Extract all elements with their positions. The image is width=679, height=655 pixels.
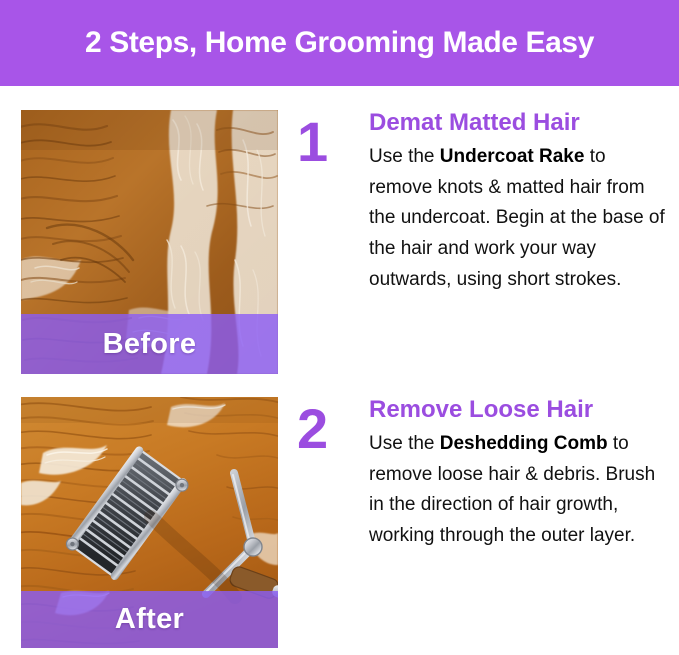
step-text-1: Demat Matted Hair Use the Undercoat Rake…: [369, 110, 669, 296]
before-label-text: Before: [103, 328, 197, 361]
page-title: 2 Steps, Home Grooming Made Easy: [85, 26, 594, 60]
header-banner: 2 Steps, Home Grooming Made Easy: [0, 0, 679, 86]
step-body-2-bold: Deshedding Comb: [440, 433, 608, 454]
step-row-1: Before 1 Demat Matted Hair Use the Under…: [0, 110, 679, 374]
step-body-1-after: to remove knots & matted hair from the u…: [369, 146, 665, 290]
step-number-2: 2: [297, 401, 353, 457]
before-photo: Before: [21, 110, 278, 374]
step-body-1: Use the Undercoat Rake to remove knots &…: [369, 142, 669, 296]
before-label-band: Before: [21, 314, 278, 374]
step-heading-1: Demat Matted Hair: [369, 110, 669, 137]
rake-pivot: [244, 538, 262, 556]
step-body-1-before: Use the: [369, 146, 440, 167]
step-body-1-bold: Undercoat Rake: [440, 146, 585, 167]
after-label-band: After: [21, 591, 278, 648]
step-row-2: After 2 Remove Loose Hair Use the Deshed…: [0, 397, 679, 648]
step-body-2: Use the Deshedding Comb to remove loose …: [369, 429, 669, 552]
after-label-text: After: [115, 603, 184, 636]
step-number-1: 1: [297, 114, 353, 170]
step-heading-2: Remove Loose Hair: [369, 397, 669, 424]
after-photo: After: [21, 397, 278, 648]
step-text-2: Remove Loose Hair Use the Deshedding Com…: [369, 397, 669, 552]
step-body-2-before: Use the: [369, 433, 440, 454]
